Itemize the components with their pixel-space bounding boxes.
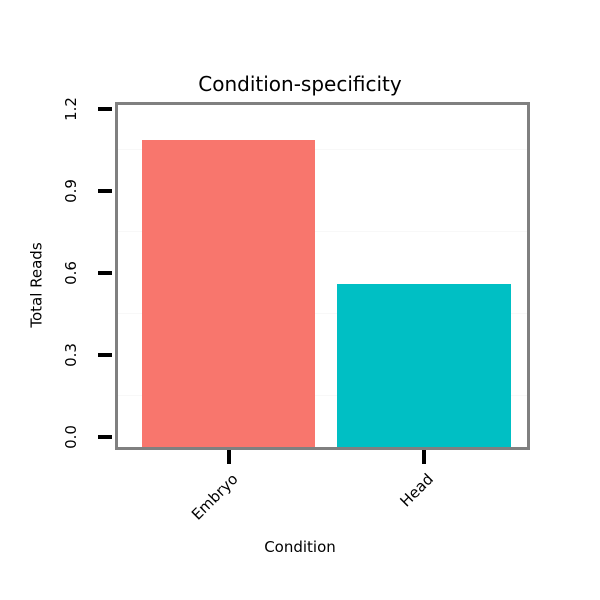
x-tick-mark-1 bbox=[422, 450, 426, 464]
y-tick-label-2: 0.6 bbox=[62, 261, 80, 285]
x-axis-title: Condition bbox=[0, 538, 600, 556]
y-tick-label-1-wrap: 0.3 bbox=[56, 348, 86, 362]
y-tick-label-4: 1.2 bbox=[62, 97, 80, 121]
y-tick-mark-1 bbox=[98, 353, 112, 357]
x-tick-label-embryo: Embryo bbox=[188, 470, 242, 524]
plot-panel bbox=[115, 102, 530, 450]
x-tick-label-1-wrap: Head bbox=[364, 470, 484, 510]
bar-embryo bbox=[142, 140, 315, 447]
y-tick-label-3-wrap: 0.9 bbox=[56, 184, 86, 198]
y-tick-label-1: 0.3 bbox=[62, 343, 80, 367]
x-tick-label-0-wrap: Embryo bbox=[169, 470, 289, 510]
y-tick-label-2-wrap: 0.6 bbox=[56, 266, 86, 280]
bar-chart: Condition-specificity 0.0 0.3 0.6 0.9 1.… bbox=[0, 0, 600, 600]
y-tick-label-3: 0.9 bbox=[62, 179, 80, 203]
y-tick-label-0: 0.0 bbox=[62, 425, 80, 449]
bar-head bbox=[337, 284, 511, 447]
chart-title: Condition-specificity bbox=[0, 72, 600, 96]
y-tick-mark-4 bbox=[98, 107, 112, 111]
y-tick-label-4-wrap: 1.2 bbox=[56, 102, 86, 116]
y-axis-title-text: Total Reads bbox=[28, 242, 46, 327]
y-tick-label-0-wrap: 0.0 bbox=[56, 430, 86, 444]
y-tick-mark-3 bbox=[98, 189, 112, 193]
x-tick-label-head: Head bbox=[396, 470, 436, 510]
plot-inner bbox=[118, 105, 527, 447]
y-tick-mark-0 bbox=[98, 435, 112, 439]
x-tick-mark-0 bbox=[227, 450, 231, 464]
y-axis-title: Total Reads bbox=[22, 235, 52, 335]
y-tick-mark-2 bbox=[98, 271, 112, 275]
